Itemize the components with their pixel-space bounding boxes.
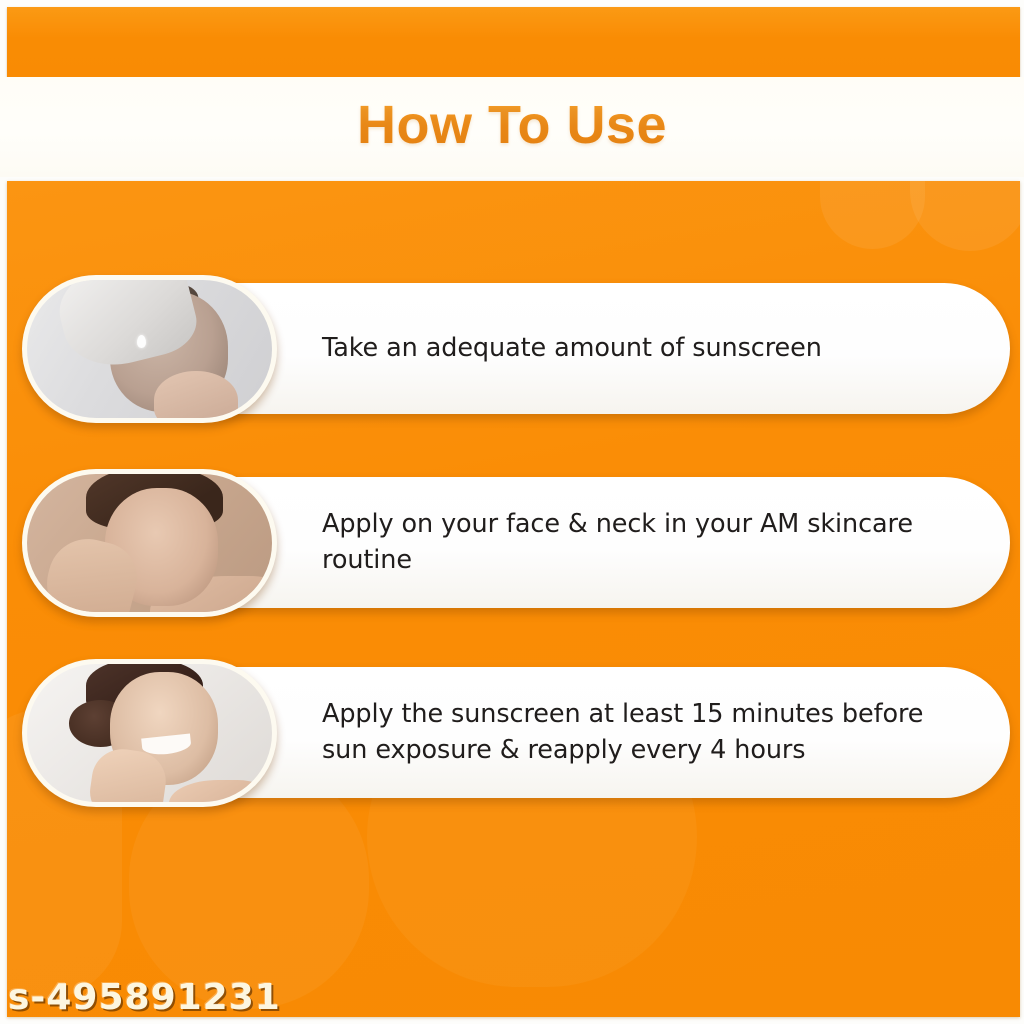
decorative-blob-top-right-1 [910, 181, 1020, 251]
shoulder-shape [169, 780, 267, 802]
page-title: How To Use [357, 98, 667, 156]
decorative-blob-top-right-2 [820, 181, 925, 249]
step-thumbnail-2 [22, 469, 277, 617]
step-text-1: Take an adequate amount of sunscreen [322, 331, 822, 366]
woman-applying-cream-image [27, 474, 272, 612]
top-orange-band [7, 7, 1020, 77]
step-text-3: Apply the sunscreen at least 15 minutes … [322, 697, 970, 767]
step-text-2: Apply on your face & neck in your AM ski… [322, 507, 970, 577]
how-to-use-infographic: How To Use Take an adequate amount of su… [0, 0, 1024, 1024]
step-thumbnail-3 [22, 659, 277, 807]
watermark-product-code: s-495891231 [8, 977, 281, 1018]
steps-panel: Take an adequate amount of sunscreen App… [7, 181, 1020, 1017]
woman-with-hair-towel-image [27, 280, 272, 418]
smiling-woman-image [27, 664, 272, 802]
step-thumbnail-1 [22, 275, 277, 423]
hand-shape [154, 371, 237, 418]
title-band: How To Use [0, 77, 1024, 177]
